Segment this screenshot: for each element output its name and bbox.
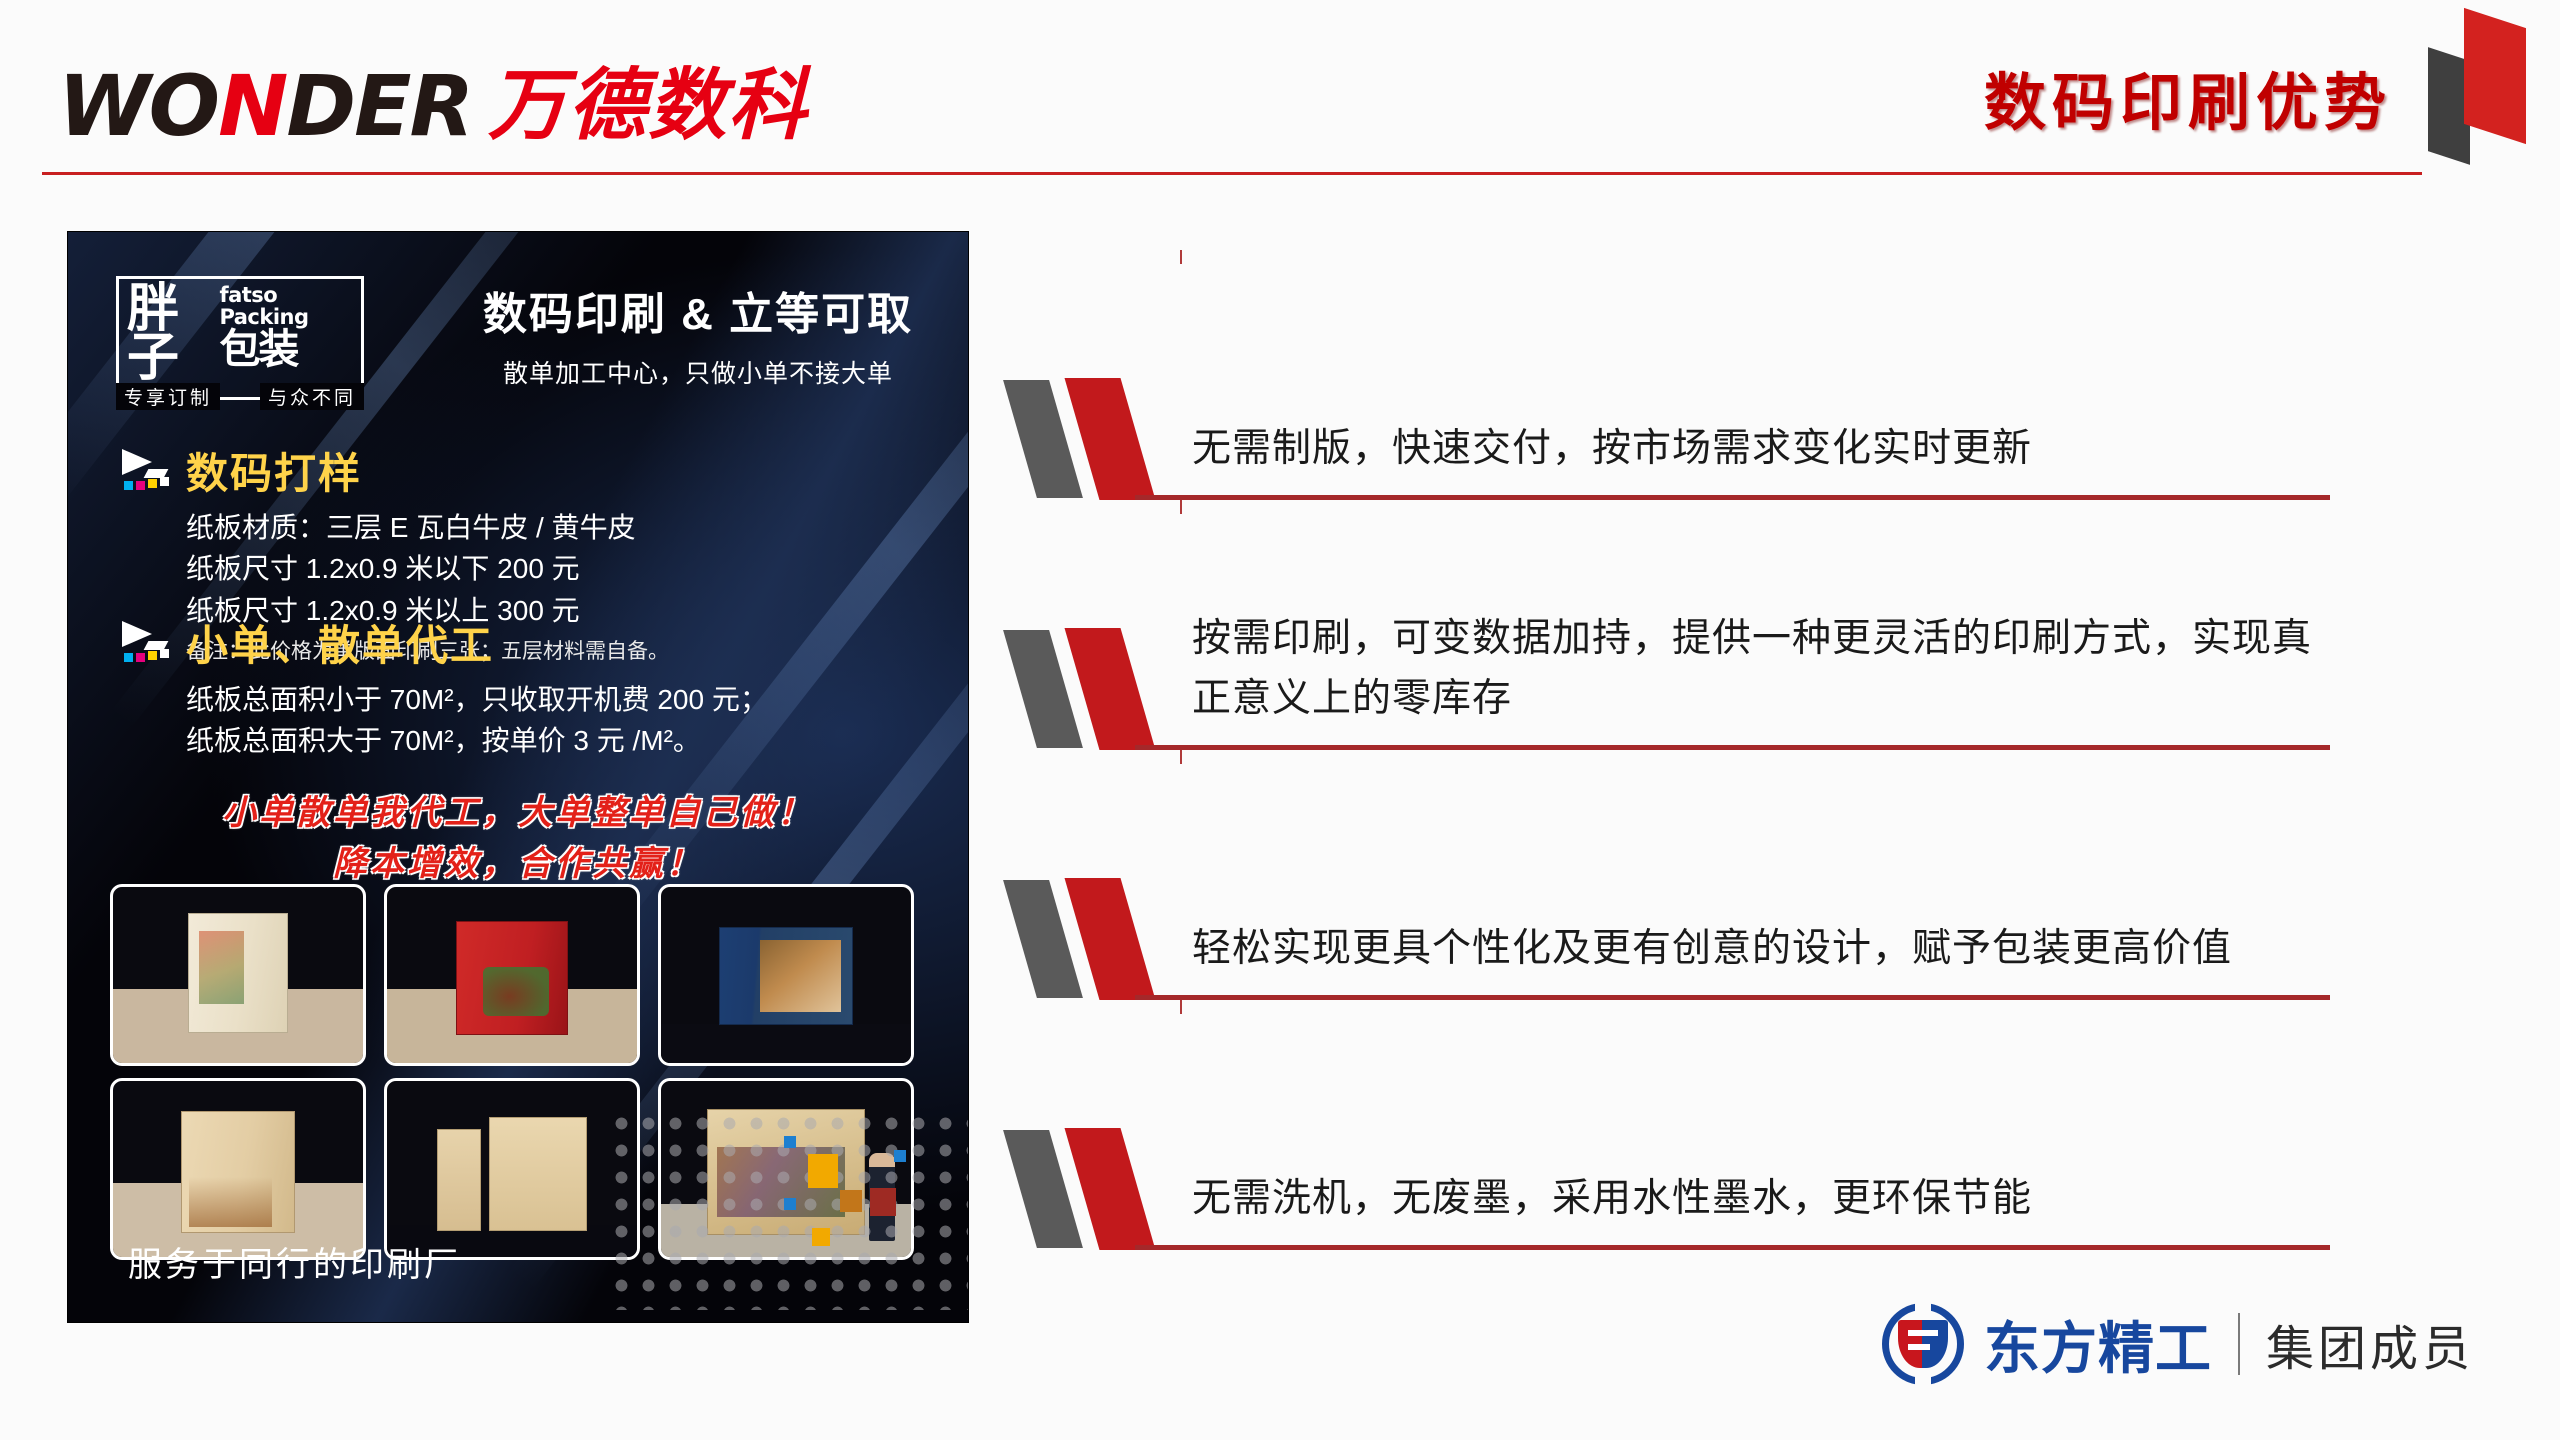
advantage-4-marker-icon (1010, 1130, 1190, 1250)
poster-slogan-line-2: 降本增效，合作共赢！ (68, 839, 968, 890)
advantage-2-text: 按需印刷，可变数据加持，提供一种更灵活的印刷方式，实现真正意义上的零库存 (1192, 609, 2332, 728)
advantage-1-tick (1180, 250, 1182, 264)
fatso-badge-en: fatso Packing (219, 283, 308, 329)
poster-section-2-title-row: 小单、散单代工 (116, 612, 936, 673)
poster-section-2: 小单、散单代工 纸板总面积小于 70M²，只收取开机费 200 元； 纸板总面积… (116, 612, 936, 762)
poster-photo-kraft-handle-box (110, 1078, 366, 1260)
advantages-list: 无需制版，快速交付，按市场需求变化实时更新 按需印刷，可变数据加持，提供一种更灵… (1010, 250, 2340, 1250)
footer-divider (2238, 1313, 2240, 1375)
poster-photo-red-meat-gift-box (384, 884, 640, 1066)
chevron-arrow-icon (116, 445, 178, 497)
poster-section-2-title: 小单、散单代工 (186, 612, 494, 673)
wonder-wordmark-n: N (218, 64, 286, 148)
poster-photo-blue-beef-carton (658, 884, 914, 1066)
poster-section-1-line-1: 纸板材质：三层 E 瓦白牛皮 / 黄牛皮 (186, 507, 936, 548)
advantage-4-text: 无需洗机，无废墨，采用水性墨水，更环保节能 (1192, 1169, 2332, 1228)
poster-slogan-line-1: 小单散单我代工，大单整单自己做！ (68, 788, 968, 839)
fatso-badge-top: 胖子 fatso Packing 包装 (127, 285, 361, 384)
wonder-brand-logo: WONDER 万德数科 (58, 58, 808, 154)
poster-section-1-line-2: 纸板尺寸 1.2x0.9 米以下 200 元 (186, 548, 936, 589)
poster-image: 胖子 fatso Packing 包装 专享订制 与众不同 数码印刷 & 立等可… (68, 232, 968, 1322)
poster-photo-large-landscape-carton (658, 1078, 914, 1260)
fatso-badge-tag-right: 与众不同 (260, 383, 364, 410)
poster-photo-honey-gift-box (110, 884, 366, 1066)
poster-footer-text: 服务于同行的印刷厂 (128, 1237, 461, 1286)
fatso-badge-tag-left: 专享订制 (116, 383, 220, 410)
advantage-item-4: 无需洗机，无废墨，采用水性墨水，更环保节能 (1010, 1000, 2340, 1250)
fatso-badge-cn-big: 胖子 (127, 285, 215, 384)
wonder-wordmark: WONDER (58, 64, 472, 148)
poster-photo-grid (110, 884, 926, 1260)
poster-headline-block: 数码印刷 & 立等可取 散单加工中心，只做小单不接大单 (448, 278, 948, 390)
page-title: 数码印刷优势 (1984, 52, 2392, 142)
advantage-3-tick (1180, 750, 1182, 764)
poster-photo-classic-kraft-boxes (384, 1078, 640, 1260)
wonder-wordmark-left: WO (58, 64, 218, 148)
fatso-packing-badge: 胖子 fatso Packing 包装 专享订制 与众不同 (116, 276, 364, 400)
poster-section-1-title: 数码打样 (186, 440, 362, 501)
advantage-3-marker-icon (1010, 880, 1190, 1000)
poster-subheadline: 散单加工中心，只做小单不接大单 (448, 354, 948, 390)
poster-section-2-line-1: 纸板总面积小于 70M²，只收取开机费 200 元； (186, 679, 936, 720)
wonder-wordmark-right: DER (286, 64, 472, 148)
poster-section-2-lines: 纸板总面积小于 70M²，只收取开机费 200 元； 纸板总面积大于 70M²，… (116, 679, 936, 762)
fatso-badge-tags: 专享订制 与众不同 (119, 383, 361, 410)
slide-header: WONDER 万德数科 数码印刷优势 (0, 0, 2560, 178)
fatso-badge-right: fatso Packing 包装 (219, 285, 361, 370)
group-member-label: 集团成员 (2266, 1309, 2474, 1379)
poster-section-1-title-row: 数码打样 (116, 440, 936, 501)
advantage-2-tick (1180, 500, 1182, 514)
advantage-1-text: 无需制版，快速交付，按市场需求变化实时更新 (1192, 419, 2332, 478)
header-divider (42, 172, 2422, 175)
advantage-item-3: 轻松实现更具个性化及更有创意的设计，赋予包装更高价值 (1010, 750, 2340, 1000)
fatso-badge-cn-sub: 包装 (219, 329, 361, 370)
poster-headline: 数码印刷 & 立等可取 (448, 278, 948, 342)
corner-decoration-icon (2428, 10, 2532, 158)
slide-root: WONDER 万德数科 数码印刷优势 胖子 fatso Packing 包装 (0, 0, 2560, 1440)
advantage-2-marker-icon (1010, 630, 1190, 750)
poster-section-2-line-2: 纸板总面积大于 70M²，按单价 3 元 /M²。 (186, 720, 936, 761)
advantage-3-text: 轻松实现更具个性化及更有创意的设计，赋予包装更高价值 (1192, 919, 2332, 978)
dongfang-shield-icon (1882, 1303, 1964, 1385)
chevron-arrow-icon (116, 617, 178, 669)
advantage-1-marker-icon (1010, 380, 1190, 500)
poster-slogan: 小单散单我代工，大单整单自己做！ 降本增效，合作共赢！ (68, 788, 968, 890)
advantage-item-1: 无需制版，快速交付，按市场需求变化实时更新 (1010, 250, 2340, 500)
group-member-logo: 东方精工 集团成员 (1882, 1296, 2474, 1392)
advantage-4-underline (1135, 1245, 2330, 1250)
company-name: 东方精工 (1984, 1304, 2212, 1385)
advantage-4-tick (1180, 1000, 1182, 1014)
advantage-item-2: 按需印刷，可变数据加持，提供一种更灵活的印刷方式，实现真正意义上的零库存 (1010, 500, 2340, 750)
wonder-brand-chinese: 万德数科 (488, 67, 808, 145)
corner-red-shape (2464, 8, 2526, 144)
